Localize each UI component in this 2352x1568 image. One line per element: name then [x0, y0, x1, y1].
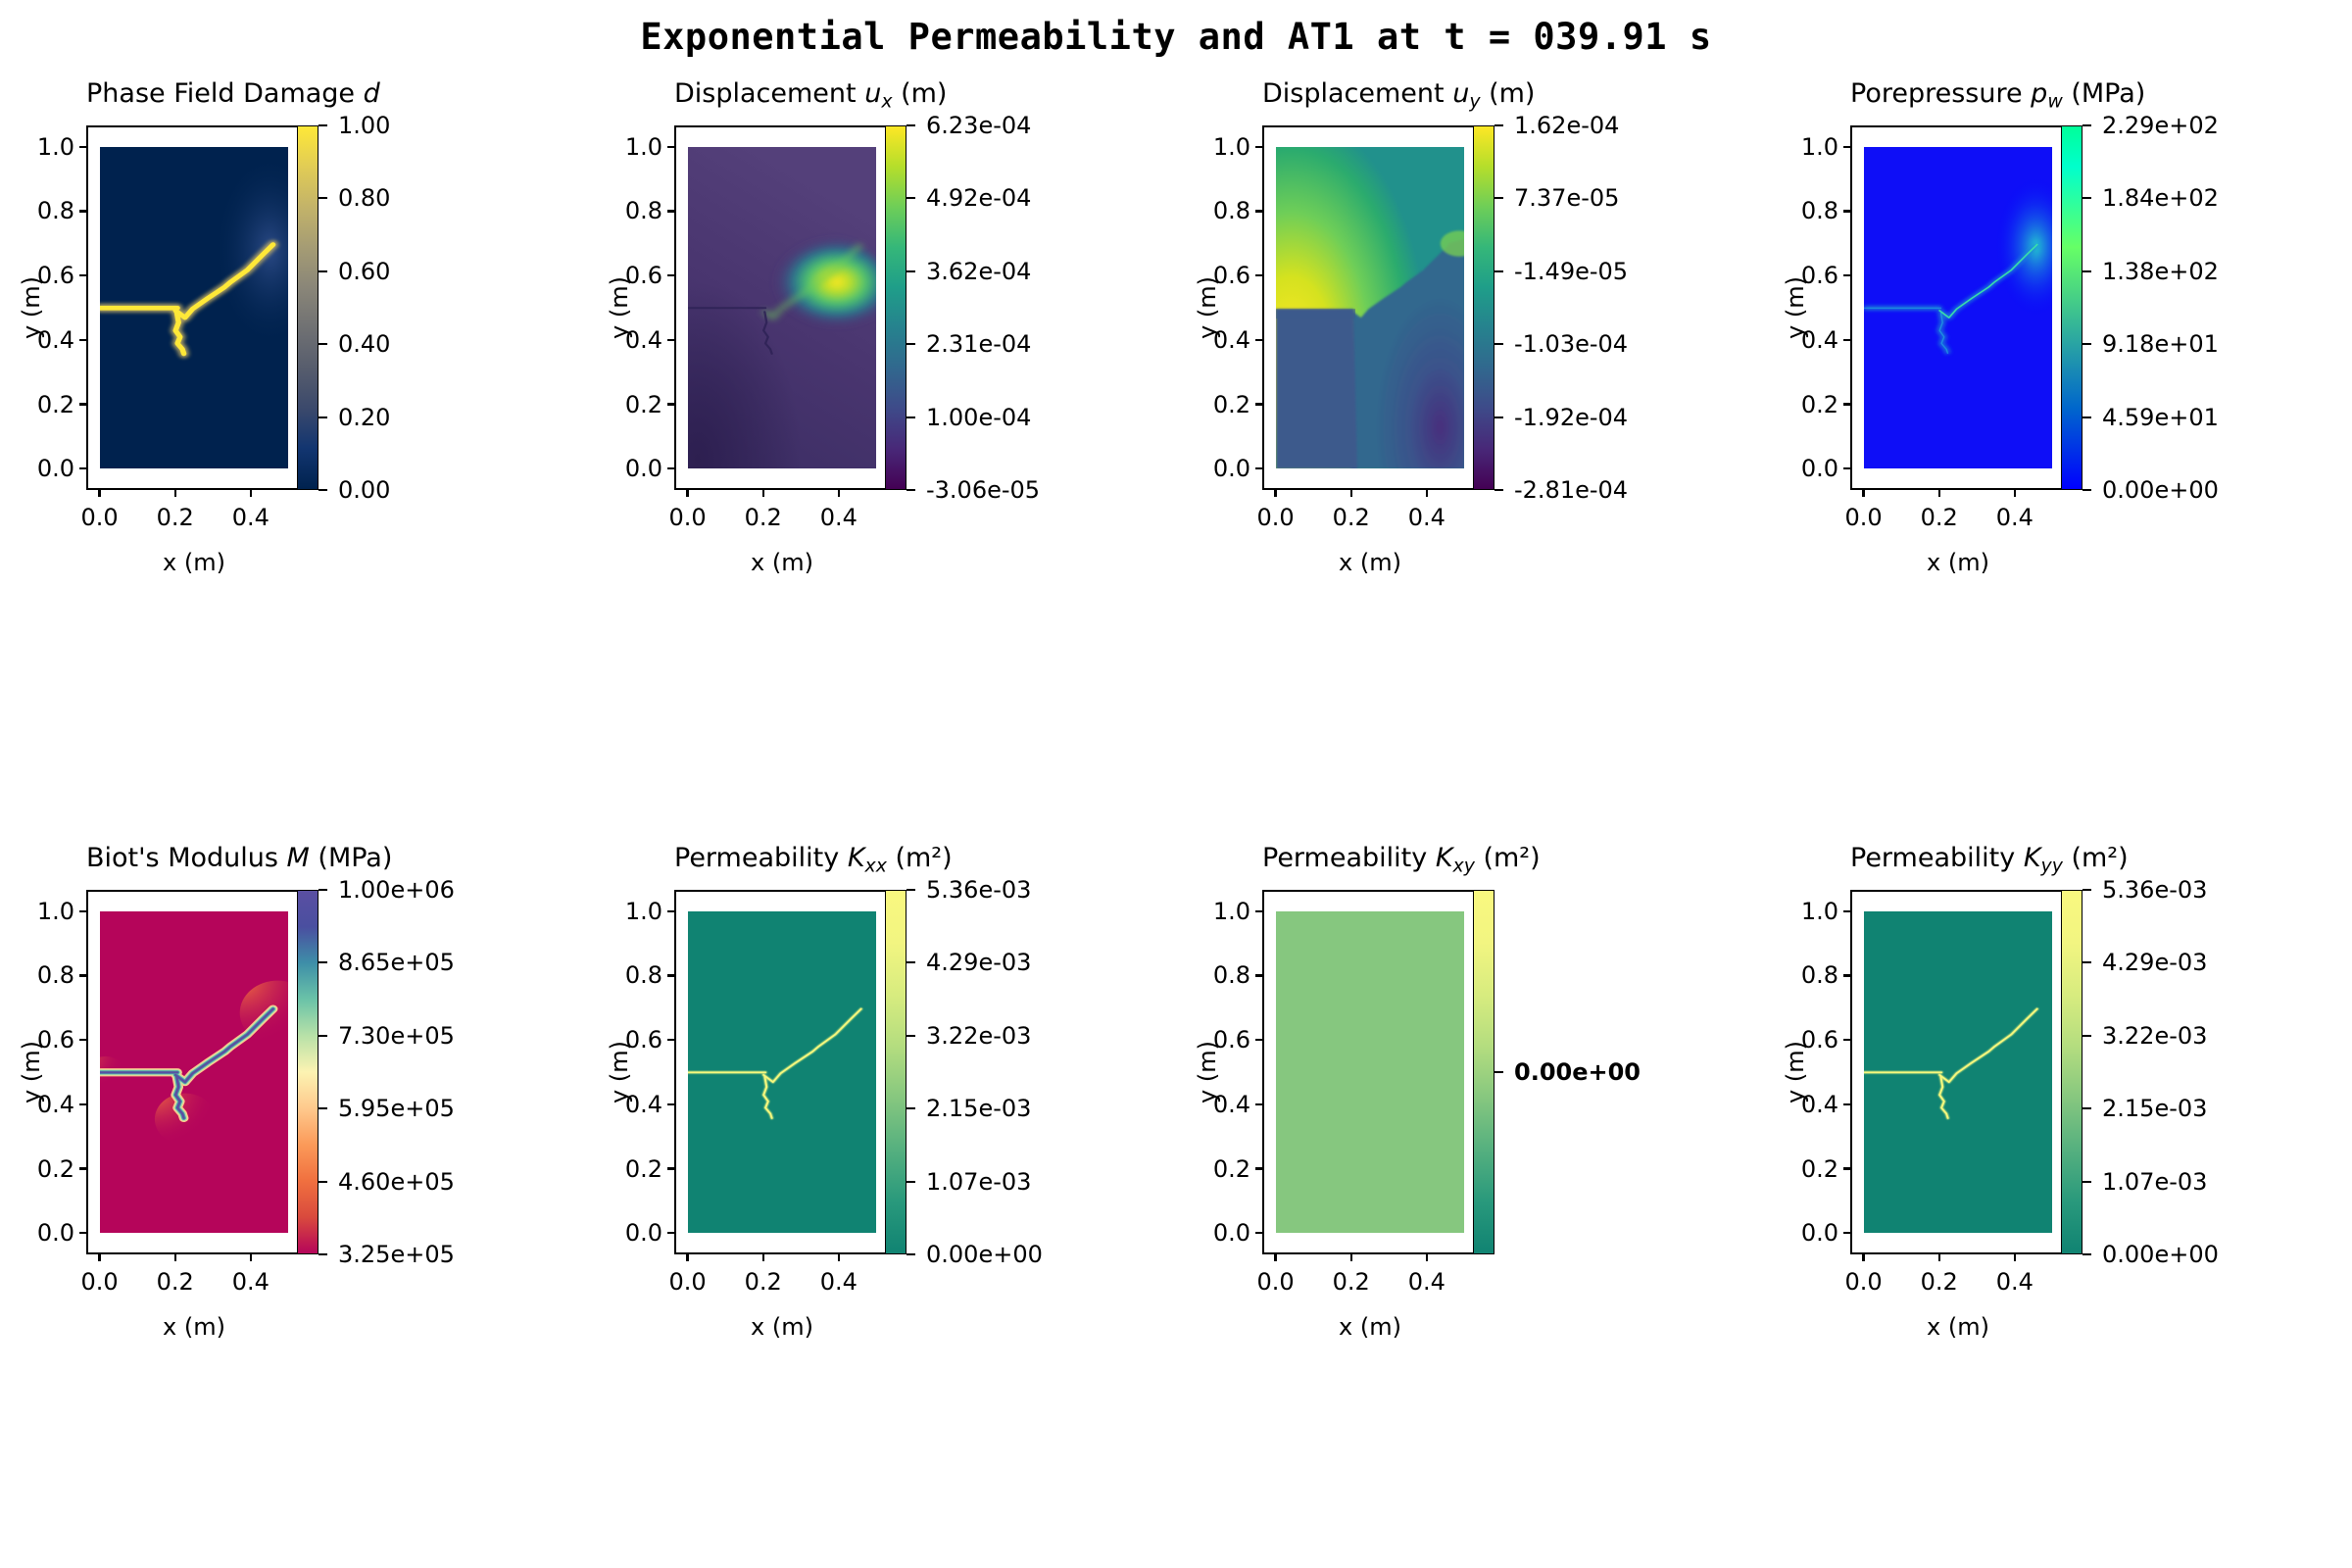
- permeability-kxx-xtick-label: 0.0: [668, 1268, 706, 1296]
- porepressure-colorbar[interactable]: [2061, 125, 2082, 490]
- permeability-kxy-xtick: [1274, 1252, 1276, 1261]
- permeability-kxy-field-image: [1276, 911, 1465, 1234]
- permeability-kyy-xtick: [1862, 1252, 1864, 1261]
- phase-field-damage-ytick: [79, 210, 88, 212]
- porepressure-title-subscript: w: [2047, 90, 2062, 112]
- biots-modulus-xtick: [98, 1252, 100, 1261]
- phase-field-damage-ytick: [79, 339, 88, 341]
- biots-modulus-xtick-label: 0.4: [232, 1268, 269, 1296]
- phase-field-damage-xtick-label: 0.4: [232, 504, 269, 531]
- permeability-kxy-xtick-label: 0.0: [1256, 1268, 1294, 1296]
- displacement-uy-colorbar-tick-label: 1.62e-04: [1514, 112, 1619, 139]
- biots-modulus-xlabel: x (m): [86, 1313, 302, 1341]
- phase-field-damage-ytick-label: 0.0: [37, 455, 74, 482]
- displacement-uy-colorbar-tick-label: -1.49e-05: [1514, 258, 1628, 285]
- phase-field-damage-ytick: [79, 274, 88, 276]
- biots-modulus-ylabel: y (m): [18, 1023, 45, 1121]
- porepressure-ytick: [1843, 467, 1852, 469]
- permeability-kxy-ytick-label: 1.0: [1213, 898, 1250, 925]
- displacement-uy-ylabel: y (m): [1194, 259, 1221, 357]
- displacement-uy-ytick-label: 0.2: [1213, 391, 1250, 418]
- displacement-ux-ytick: [667, 339, 676, 341]
- porepressure-colorbar-tick-label: 1.84e+02: [2102, 184, 2219, 212]
- displacement-ux-ytick-label: 0.8: [625, 197, 662, 224]
- porepressure-ytick-label: 0.0: [1801, 455, 1838, 482]
- porepressure-ytick-label: 0.2: [1801, 391, 1838, 418]
- displacement-ux-colorbar-tick-label: 3.62e-04: [926, 258, 1031, 285]
- permeability-kxy-title-text: Permeability: [1262, 843, 1436, 873]
- permeability-kxx-field-image: [688, 911, 877, 1234]
- permeability-kxx-colorbar-tick: [906, 961, 915, 963]
- figure-canvas: Exponential Permeability and AT1 at t = …: [0, 0, 2352, 1568]
- biots-modulus-axes[interactable]: 0.00.20.40.60.81.00.00.20.4: [86, 890, 302, 1254]
- permeability-kyy-xtick: [1938, 1252, 1940, 1261]
- porepressure-colorbar-tick: [2082, 343, 2091, 345]
- displacement-uy-ytick-label: 0.0: [1213, 455, 1250, 482]
- displacement-uy-colorbar-tick: [1494, 489, 1503, 491]
- permeability-kyy-ytick: [1843, 1039, 1852, 1041]
- biots-modulus-colorbar-tick: [318, 889, 327, 891]
- permeability-kxy-xtick-label: 0.2: [1333, 1268, 1370, 1296]
- permeability-kxy-title-subscript: xy: [1453, 855, 1475, 876]
- biots-modulus-title-unit: (MPa): [310, 843, 393, 873]
- permeability-kxy-xlabel: x (m): [1262, 1313, 1478, 1341]
- displacement-ux-colorbar-tick: [906, 416, 915, 418]
- displacement-uy-title-symbol: u: [1452, 78, 1469, 109]
- porepressure-ytick: [1843, 339, 1852, 341]
- permeability-kxx-colorbar-tick-label: 3.22e-03: [926, 1022, 1031, 1050]
- permeability-kxy-xtick: [1426, 1252, 1428, 1261]
- porepressure-colorbar-tick: [2082, 124, 2091, 126]
- porepressure-colorbar-tick: [2082, 270, 2091, 272]
- biots-modulus-ytick: [79, 1103, 88, 1105]
- permeability-kxx-ylabel: y (m): [606, 1023, 633, 1121]
- biots-modulus-colorbar-tick: [318, 1181, 327, 1183]
- permeability-kxy-ytick-label: 0.8: [1213, 961, 1250, 989]
- biots-modulus-title-symbol: M: [287, 843, 310, 873]
- displacement-ux-title-symbol: u: [864, 78, 881, 109]
- phase-field-damage-colorbar-tick-label: 0.20: [338, 404, 390, 431]
- displacement-ux-axes[interactable]: 0.00.20.40.60.81.00.00.20.4: [674, 125, 890, 490]
- permeability-kyy-field-image: [1864, 911, 2053, 1234]
- permeability-kyy-axes[interactable]: 0.00.20.40.60.81.00.00.20.4: [1850, 890, 2066, 1254]
- permeability-kxx-title: Permeability Kxx (m²): [674, 843, 890, 876]
- displacement-uy-ytick: [1255, 403, 1264, 405]
- displacement-ux-ylabel: y (m): [606, 259, 633, 357]
- permeability-kxy-colorbar-tick-label: 0.00e+00: [1514, 1058, 1641, 1086]
- biots-modulus-ytick-label: 0.2: [37, 1155, 74, 1183]
- permeability-kxy-xtick: [1350, 1252, 1352, 1261]
- permeability-kxy-title-symbol: K: [1436, 843, 1453, 873]
- permeability-kyy-colorbar-tick-label: 3.22e-03: [2102, 1022, 2207, 1050]
- permeability-kxy-ylabel: y (m): [1194, 1023, 1221, 1121]
- phase-field-damage-ytick-label: 1.0: [37, 133, 74, 161]
- biots-modulus-colorbar-tick-label: 7.30e+05: [338, 1022, 455, 1050]
- displacement-uy-colorbar-tick-label: -1.03e-04: [1514, 330, 1628, 358]
- permeability-kxx-colorbar-tick-label: 1.07e-03: [926, 1168, 1031, 1196]
- biots-modulus-colorbar-tick-label: 5.95e+05: [338, 1095, 455, 1122]
- displacement-ux-colorbar-tick: [906, 270, 915, 272]
- permeability-kyy-title-unit: (m²): [2063, 843, 2129, 873]
- porepressure-field-image: [1864, 147, 2053, 469]
- permeability-kyy-colorbar-tick: [2082, 889, 2091, 891]
- porepressure-title-symbol: p: [2031, 78, 2047, 109]
- permeability-kxy-ytick: [1255, 974, 1264, 976]
- porepressure-xtick: [2014, 488, 2016, 497]
- subplot-displacement-ux: Displacement ux (m) 0.00.20.40.60.81.00.…: [604, 65, 1143, 596]
- permeability-kxx-title-subscript: xx: [865, 855, 887, 876]
- displacement-uy-colorbar[interactable]: [1473, 125, 1494, 490]
- displacement-uy-ytick: [1255, 146, 1264, 148]
- biots-modulus-xtick-label: 0.2: [157, 1268, 194, 1296]
- biots-modulus-colorbar-tick-label: 4.60e+05: [338, 1168, 455, 1196]
- permeability-kyy-colorbar-tick-label: 0.00e+00: [2102, 1241, 2219, 1268]
- displacement-uy-xtick-label: 0.0: [1256, 504, 1294, 531]
- permeability-kyy-colorbar[interactable]: [2061, 890, 2082, 1254]
- displacement-ux-xtick: [762, 488, 764, 497]
- phase-field-damage-colorbar-tick-label: 1.00: [338, 112, 390, 139]
- permeability-kxx-colorbar-tick: [906, 1107, 915, 1109]
- permeability-kyy-colorbar-tick: [2082, 1253, 2091, 1255]
- phase-field-damage-title-symbol: d: [364, 78, 380, 109]
- porepressure-colorbar-tick-label: 0.00e+00: [2102, 476, 2219, 504]
- displacement-uy-axes[interactable]: 0.00.20.40.60.81.00.00.20.4: [1262, 125, 1478, 490]
- displacement-uy-title: Displacement uy (m): [1262, 78, 1478, 112]
- displacement-uy-xtick: [1350, 488, 1352, 497]
- displacement-uy-colorbar-tick-label: -1.92e-04: [1514, 404, 1628, 431]
- phase-field-damage-xtick: [98, 488, 100, 497]
- displacement-uy-colorbar-tick: [1494, 343, 1503, 345]
- permeability-kxy-ytick-label: 0.0: [1213, 1219, 1250, 1247]
- porepressure-ytick: [1843, 274, 1852, 276]
- displacement-ux-xtick-label: 0.2: [745, 504, 782, 531]
- permeability-kxx-xtick: [838, 1252, 840, 1261]
- phase-field-damage-xtick-label: 0.0: [80, 504, 118, 531]
- biots-modulus-ytick: [79, 1039, 88, 1041]
- phase-field-damage-colorbar-tick-label: 0.40: [338, 330, 390, 358]
- displacement-ux-ytick: [667, 274, 676, 276]
- phase-field-damage-ylabel: y (m): [18, 259, 45, 357]
- permeability-kyy-xlabel: x (m): [1850, 1313, 2066, 1341]
- phase-field-damage-xtick-label: 0.2: [157, 504, 194, 531]
- displacement-ux-title: Displacement ux (m): [674, 78, 890, 112]
- displacement-ux-xtick: [838, 488, 840, 497]
- permeability-kyy-colorbar-tick: [2082, 1181, 2091, 1183]
- porepressure-colorbar-tick: [2082, 416, 2091, 418]
- displacement-ux-ytick: [667, 210, 676, 212]
- displacement-ux-colorbar-tick-label: 4.92e-04: [926, 184, 1031, 212]
- displacement-ux-title-unit: (m): [893, 78, 948, 109]
- phase-field-damage-colorbar-tick-label: 0.80: [338, 184, 390, 212]
- permeability-kyy-title-subscript: yy: [2041, 855, 2063, 876]
- porepressure-colorbar-tick: [2082, 197, 2091, 199]
- displacement-ux-title-subscript: x: [881, 90, 892, 112]
- displacement-ux-xtick-label: 0.4: [820, 504, 857, 531]
- permeability-kxx-ytick-label: 0.0: [625, 1219, 662, 1247]
- phase-field-damage-field-image: [100, 147, 289, 469]
- permeability-kxx-ytick: [667, 1167, 676, 1169]
- displacement-ux-colorbar-tick-label: -3.06e-05: [926, 476, 1040, 504]
- permeability-kyy-colorbar-tick: [2082, 1035, 2091, 1037]
- permeability-kyy-xtick-label: 0.2: [1921, 1268, 1958, 1296]
- permeability-kyy-title-symbol: K: [2024, 843, 2041, 873]
- permeability-kyy-ytick: [1843, 1103, 1852, 1105]
- displacement-ux-field-image: [688, 147, 877, 469]
- biots-modulus-colorbar-tick-label: 3.25e+05: [338, 1241, 455, 1268]
- phase-field-damage-colorbar-tick: [318, 270, 327, 272]
- permeability-kyy-ytick-label: 1.0: [1801, 898, 1838, 925]
- permeability-kxy-title-unit: (m²): [1475, 843, 1541, 873]
- biots-modulus-ytick: [79, 1232, 88, 1234]
- phase-field-damage-colorbar[interactable]: [297, 125, 318, 490]
- biots-modulus-xtick-label: 0.0: [80, 1268, 118, 1296]
- permeability-kxy-axes[interactable]: 0.00.20.40.60.81.00.00.20.4: [1262, 890, 1478, 1254]
- permeability-kxx-ytick-label: 1.0: [625, 898, 662, 925]
- permeability-kyy-colorbar-tick: [2082, 961, 2091, 963]
- permeability-kxx-ytick-label: 0.8: [625, 961, 662, 989]
- permeability-kyy-xtick-label: 0.4: [1996, 1268, 2033, 1296]
- displacement-ux-colorbar-tick-label: 6.23e-04: [926, 112, 1031, 139]
- biots-modulus-colorbar[interactable]: [297, 890, 318, 1254]
- permeability-kxx-xtick-label: 0.2: [745, 1268, 782, 1296]
- permeability-kxx-title-symbol: K: [848, 843, 865, 873]
- porepressure-xtick: [1862, 488, 1864, 497]
- permeability-kxx-colorbar-tick: [906, 1035, 915, 1037]
- phase-field-damage-colorbar-tick-label: 0.00: [338, 476, 390, 504]
- phase-field-damage-title-text: Phase Field Damage: [86, 78, 364, 109]
- displacement-uy-ytick: [1255, 210, 1264, 212]
- biots-modulus-xtick: [174, 1252, 176, 1261]
- phase-field-damage-colorbar-tick-label: 0.60: [338, 258, 390, 285]
- displacement-ux-ytick-label: 0.2: [625, 391, 662, 418]
- displacement-ux-title-text: Displacement: [674, 78, 864, 109]
- displacement-ux-colorbar-tick: [906, 124, 915, 126]
- permeability-kxx-colorbar-tick-label: 0.00e+00: [926, 1241, 1043, 1268]
- biots-modulus-title-text: Biot's Modulus: [86, 843, 287, 873]
- permeability-kxy-colorbar-tick: [1494, 1071, 1503, 1073]
- permeability-kyy-ytick-label: 0.2: [1801, 1155, 1838, 1183]
- displacement-ux-xlabel: x (m): [674, 549, 890, 576]
- permeability-kyy-title: Permeability Kyy (m²): [1850, 843, 2066, 876]
- displacement-ux-colorbar-tick-label: 2.31e-04: [926, 330, 1031, 358]
- displacement-uy-ytick-label: 0.8: [1213, 197, 1250, 224]
- porepressure-xtick-label: 0.2: [1921, 504, 1958, 531]
- displacement-ux-ytick-label: 1.0: [625, 133, 662, 161]
- displacement-uy-ytick-label: 1.0: [1213, 133, 1250, 161]
- permeability-kxx-ytick: [667, 1039, 676, 1041]
- phase-field-damage-ytick-label: 0.8: [37, 197, 74, 224]
- figure-suptitle: Exponential Permeability and AT1 at t = …: [0, 16, 2352, 58]
- displacement-uy-ytick: [1255, 467, 1264, 469]
- phase-field-damage-colorbar-tick: [318, 124, 327, 126]
- displacement-uy-xtick: [1274, 488, 1276, 497]
- biots-modulus-ytick: [79, 974, 88, 976]
- permeability-kyy-ytick: [1843, 910, 1852, 912]
- permeability-kyy-ytick-label: 0.0: [1801, 1219, 1838, 1247]
- biots-modulus-colorbar-tick: [318, 1035, 327, 1037]
- porepressure-colorbar-tick: [2082, 489, 2091, 491]
- displacement-ux-ytick: [667, 467, 676, 469]
- permeability-kyy-title-text: Permeability: [1850, 843, 2024, 873]
- permeability-kxx-colorbar-tick: [906, 1253, 915, 1255]
- subplot-displacement-uy: Displacement uy (m) 0.00.20.40.60.81.00.…: [1192, 65, 1731, 596]
- phase-field-damage-ytick: [79, 146, 88, 148]
- porepressure-title: Porepressure pw (MPa): [1850, 78, 2066, 112]
- porepressure-colorbar-tick-label: 9.18e+01: [2102, 330, 2219, 358]
- permeability-kxx-ytick: [667, 1232, 676, 1234]
- displacement-uy-colorbar-tick: [1494, 197, 1503, 199]
- biots-modulus-ytick: [79, 1167, 88, 1169]
- phase-field-damage-axes[interactable]: 0.00.20.40.60.81.00.00.20.4: [86, 125, 302, 490]
- permeability-kyy-ytick: [1843, 1232, 1852, 1234]
- phase-field-damage-ytick: [79, 403, 88, 405]
- porepressure-colorbar-tick-label: 4.59e+01: [2102, 404, 2219, 431]
- displacement-uy-xtick: [1426, 488, 1428, 497]
- subplot-biots-modulus: Biot's Modulus M (MPa) 0.00.20.40.60.81.…: [16, 829, 555, 1360]
- permeability-kxx-colorbar-tick-label: 4.29e-03: [926, 949, 1031, 976]
- subplot-permeability-kxx: Permeability Kxx (m²) 0.00.20.40.60.81.0…: [604, 829, 1143, 1360]
- porepressure-colorbar-tick-label: 2.29e+02: [2102, 112, 2219, 139]
- permeability-kxx-title-text: Permeability: [674, 843, 848, 873]
- permeability-kxx-colorbar-tick-label: 5.36e-03: [926, 876, 1031, 904]
- phase-field-damage-xtick: [250, 488, 252, 497]
- biots-modulus-colorbar-tick: [318, 961, 327, 963]
- permeability-kxx-xlabel: x (m): [674, 1313, 890, 1341]
- phase-field-damage-colorbar-tick: [318, 416, 327, 418]
- permeability-kyy-xtick: [2014, 1252, 2016, 1261]
- permeability-kxy-ytick: [1255, 1103, 1264, 1105]
- phase-field-damage-ytick-label: 0.2: [37, 391, 74, 418]
- displacement-uy-title-subscript: y: [1469, 90, 1480, 112]
- phase-field-damage-colorbar-tick: [318, 197, 327, 199]
- biots-modulus-colorbar-tick: [318, 1107, 327, 1109]
- porepressure-ytick: [1843, 403, 1852, 405]
- displacement-uy-xlabel: x (m): [1262, 549, 1478, 576]
- displacement-ux-ytick: [667, 146, 676, 148]
- permeability-kyy-ytick: [1843, 974, 1852, 976]
- permeability-kxx-ytick-label: 0.2: [625, 1155, 662, 1183]
- permeability-kyy-colorbar-tick-label: 4.29e-03: [2102, 949, 2207, 976]
- porepressure-xtick: [1938, 488, 1940, 497]
- porepressure-ytick-label: 0.8: [1801, 197, 1838, 224]
- porepressure-axes[interactable]: 0.00.20.40.60.81.00.00.20.4: [1850, 125, 2066, 490]
- biots-modulus-colorbar-tick-label: 8.65e+05: [338, 949, 455, 976]
- permeability-kxx-axes[interactable]: 0.00.20.40.60.81.00.00.20.4: [674, 890, 890, 1254]
- displacement-uy-colorbar-tick: [1494, 270, 1503, 272]
- porepressure-xtick-label: 0.0: [1844, 504, 1882, 531]
- porepressure-title-text: Porepressure: [1850, 78, 2031, 109]
- phase-field-damage-colorbar-tick: [318, 489, 327, 491]
- subplot-permeability-kxy: Permeability Kxy (m²)0.00.20.40.60.81.00…: [1192, 829, 1731, 1360]
- biots-modulus-colorbar-tick: [318, 1253, 327, 1255]
- permeability-kyy-ytick-label: 0.8: [1801, 961, 1838, 989]
- displacement-uy-title-text: Displacement: [1262, 78, 1452, 109]
- permeability-kyy-xtick-label: 0.0: [1844, 1268, 1882, 1296]
- porepressure-ytick: [1843, 146, 1852, 148]
- permeability-kxy-ytick: [1255, 910, 1264, 912]
- displacement-uy-field-image: [1276, 147, 1465, 469]
- permeability-kxx-ytick: [667, 1103, 676, 1105]
- displacement-ux-xtick: [686, 488, 688, 497]
- biots-modulus-title: Biot's Modulus M (MPa): [86, 843, 302, 873]
- subplot-phase-field-damage: Phase Field Damage d 0.00.20.40.60.81.00…: [16, 65, 555, 596]
- phase-field-damage-xtick: [174, 488, 176, 497]
- permeability-kxx-colorbar-tick: [906, 889, 915, 891]
- permeability-kyy-colorbar-tick-label: 1.07e-03: [2102, 1168, 2207, 1196]
- displacement-uy-colorbar-tick: [1494, 124, 1503, 126]
- permeability-kxx-ytick: [667, 974, 676, 976]
- displacement-uy-ytick: [1255, 274, 1264, 276]
- permeability-kxy-xtick-label: 0.4: [1408, 1268, 1445, 1296]
- biots-modulus-ytick: [79, 910, 88, 912]
- permeability-kyy-ytick: [1843, 1167, 1852, 1169]
- biots-modulus-ytick-label: 0.0: [37, 1219, 74, 1247]
- permeability-kxy-ytick-label: 0.2: [1213, 1155, 1250, 1183]
- permeability-kxx-title-unit: (m²): [887, 843, 953, 873]
- permeability-kxy-colorbar[interactable]: [1473, 890, 1494, 1254]
- displacement-ux-colorbar[interactable]: [885, 125, 906, 490]
- displacement-ux-colorbar-tick: [906, 197, 915, 199]
- biots-modulus-xtick: [250, 1252, 252, 1261]
- permeability-kxx-xtick-label: 0.4: [820, 1268, 857, 1296]
- porepressure-xlabel: x (m): [1850, 549, 2066, 576]
- porepressure-title-unit: (MPa): [2063, 78, 2146, 109]
- phase-field-damage-ytick: [79, 467, 88, 469]
- permeability-kxy-title: Permeability Kxy (m²): [1262, 843, 1478, 876]
- permeability-kyy-colorbar-tick: [2082, 1107, 2091, 1109]
- biots-modulus-field-image: [100, 911, 289, 1234]
- phase-field-damage-title: Phase Field Damage d: [86, 78, 302, 109]
- permeability-kxy-ytick: [1255, 1232, 1264, 1234]
- phase-field-damage-xlabel: x (m): [86, 549, 302, 576]
- permeability-kxx-colorbar-tick-label: 2.15e-03: [926, 1095, 1031, 1122]
- displacement-ux-colorbar-tick: [906, 489, 915, 491]
- subplot-porepressure: Porepressure pw (MPa) 0.00.20.40.60.81.0…: [1780, 65, 2319, 596]
- permeability-kyy-ylabel: y (m): [1782, 1023, 1809, 1121]
- porepressure-colorbar-tick-label: 1.38e+02: [2102, 258, 2219, 285]
- subplot-permeability-kyy: Permeability Kyy (m²) 0.00.20.40.60.81.0…: [1780, 829, 2319, 1360]
- biots-modulus-colorbar-tick-label: 1.00e+06: [338, 876, 455, 904]
- permeability-kyy-colorbar-tick-label: 2.15e-03: [2102, 1095, 2207, 1122]
- displacement-uy-xtick-label: 0.2: [1333, 504, 1370, 531]
- permeability-kxx-colorbar[interactable]: [885, 890, 906, 1254]
- displacement-ux-colorbar-tick: [906, 343, 915, 345]
- biots-modulus-ytick-label: 1.0: [37, 898, 74, 925]
- displacement-uy-title-unit: (m): [1481, 78, 1536, 109]
- displacement-ux-ytick: [667, 403, 676, 405]
- displacement-uy-colorbar-tick: [1494, 416, 1503, 418]
- permeability-kxx-xtick: [686, 1252, 688, 1261]
- displacement-uy-colorbar-tick-label: 7.37e-05: [1514, 184, 1619, 212]
- displacement-ux-xtick-label: 0.0: [668, 504, 706, 531]
- displacement-uy-ytick: [1255, 339, 1264, 341]
- displacement-uy-xtick-label: 0.4: [1408, 504, 1445, 531]
- permeability-kxy-ytick: [1255, 1167, 1264, 1169]
- biots-modulus-ytick-label: 0.8: [37, 961, 74, 989]
- permeability-kxy-ytick: [1255, 1039, 1264, 1041]
- permeability-kyy-colorbar-tick-label: 5.36e-03: [2102, 876, 2207, 904]
- permeability-kxx-colorbar-tick: [906, 1181, 915, 1183]
- permeability-kxx-xtick: [762, 1252, 764, 1261]
- displacement-ux-colorbar-tick-label: 1.00e-04: [926, 404, 1031, 431]
- displacement-uy-colorbar-tick-label: -2.81e-04: [1514, 476, 1628, 504]
- porepressure-xtick-label: 0.4: [1996, 504, 2033, 531]
- displacement-ux-ytick-label: 0.0: [625, 455, 662, 482]
- porepressure-ytick: [1843, 210, 1852, 212]
- phase-field-damage-colorbar-tick: [318, 343, 327, 345]
- porepressure-ytick-label: 1.0: [1801, 133, 1838, 161]
- porepressure-ylabel: y (m): [1782, 259, 1809, 357]
